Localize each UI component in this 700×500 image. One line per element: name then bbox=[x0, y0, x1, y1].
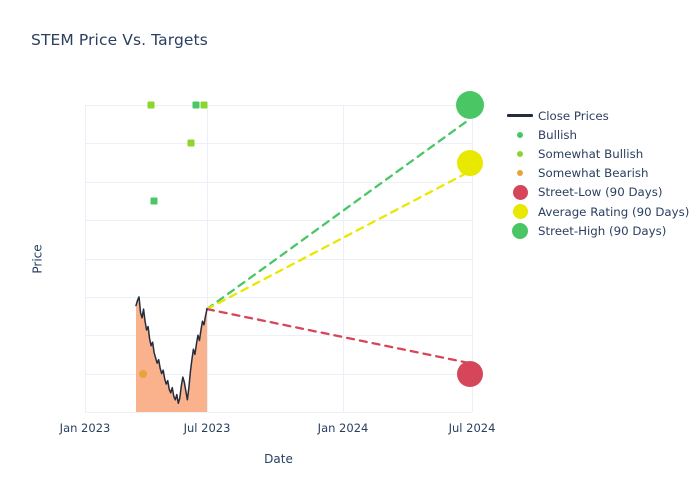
legend-label-somewhat-bearish: Somewhat Bearish bbox=[537, 166, 649, 180]
marker-street-low[interactable] bbox=[457, 361, 483, 387]
legend-label-street-low: Street-Low (90 Days) bbox=[537, 185, 663, 199]
marker-somewhat-bullish-2[interactable] bbox=[201, 102, 208, 109]
legend-item-street-high[interactable]: Street-High (90 Days) bbox=[503, 221, 689, 240]
series-layer bbox=[85, 105, 472, 412]
marker-somewhat-bullish-1[interactable] bbox=[148, 102, 155, 109]
marker-bullish-1[interactable] bbox=[193, 102, 200, 109]
legend-item-average-rating[interactable]: Average Rating (90 Days) bbox=[503, 202, 689, 221]
gridline-y-4 bbox=[85, 412, 472, 413]
chart-legend: Close Prices Bullish Somewhat Bullish So… bbox=[503, 106, 689, 240]
legend-label-somewhat-bullish: Somewhat Bullish bbox=[537, 147, 643, 161]
legend-dot-icon-somewhat-bearish bbox=[503, 170, 537, 176]
plot-area: 12 11 10 9 8 7 6 5 4 Jan 2023 Jul 2023 J… bbox=[85, 105, 472, 412]
y-axis-title: Price bbox=[31, 244, 45, 273]
legend-label-bullish: Bullish bbox=[537, 128, 577, 142]
legend-dot-icon-street-high bbox=[503, 223, 537, 239]
chart-title: STEM Price Vs. Targets bbox=[31, 31, 208, 49]
marker-somewhat-bearish-1[interactable] bbox=[139, 370, 147, 378]
legend-item-street-low[interactable]: Street-Low (90 Days) bbox=[503, 183, 689, 202]
legend-item-somewhat-bearish[interactable]: Somewhat Bearish bbox=[503, 164, 689, 183]
marker-street-high[interactable] bbox=[456, 91, 484, 119]
projection-lines bbox=[207, 119, 470, 363]
legend-label-close-prices: Close Prices bbox=[537, 109, 609, 123]
close-prices-fill bbox=[136, 297, 207, 412]
x-tick-jan2023: Jan 2023 bbox=[60, 421, 111, 435]
x-tick-jan2024: Jan 2024 bbox=[318, 421, 369, 435]
chart-container: STEM Price Vs. Targets 12 11 10 9 8 7 6 … bbox=[0, 0, 700, 500]
legend-item-bullish[interactable]: Bullish bbox=[503, 125, 689, 144]
legend-item-somewhat-bullish[interactable]: Somewhat Bullish bbox=[503, 144, 689, 163]
marker-average-rating[interactable] bbox=[457, 150, 483, 176]
legend-dot-icon-bullish bbox=[503, 132, 537, 138]
legend-label-average-rating: Average Rating (90 Days) bbox=[537, 205, 689, 219]
marker-somewhat-bullish-3[interactable] bbox=[188, 140, 195, 147]
legend-label-street-high: Street-High (90 Days) bbox=[537, 224, 666, 238]
legend-dot-icon-average-rating bbox=[503, 204, 537, 219]
legend-line-icon bbox=[503, 114, 537, 116]
legend-item-close-prices[interactable]: Close Prices bbox=[503, 106, 689, 125]
x-tick-jul2024: Jul 2024 bbox=[449, 421, 496, 435]
marker-bullish-2[interactable] bbox=[151, 198, 158, 205]
legend-dot-icon-somewhat-bullish bbox=[503, 151, 537, 157]
legend-dot-icon-street-low bbox=[503, 185, 537, 200]
x-axis-title: Date bbox=[264, 452, 293, 466]
x-tick-jul2023: Jul 2023 bbox=[184, 421, 231, 435]
